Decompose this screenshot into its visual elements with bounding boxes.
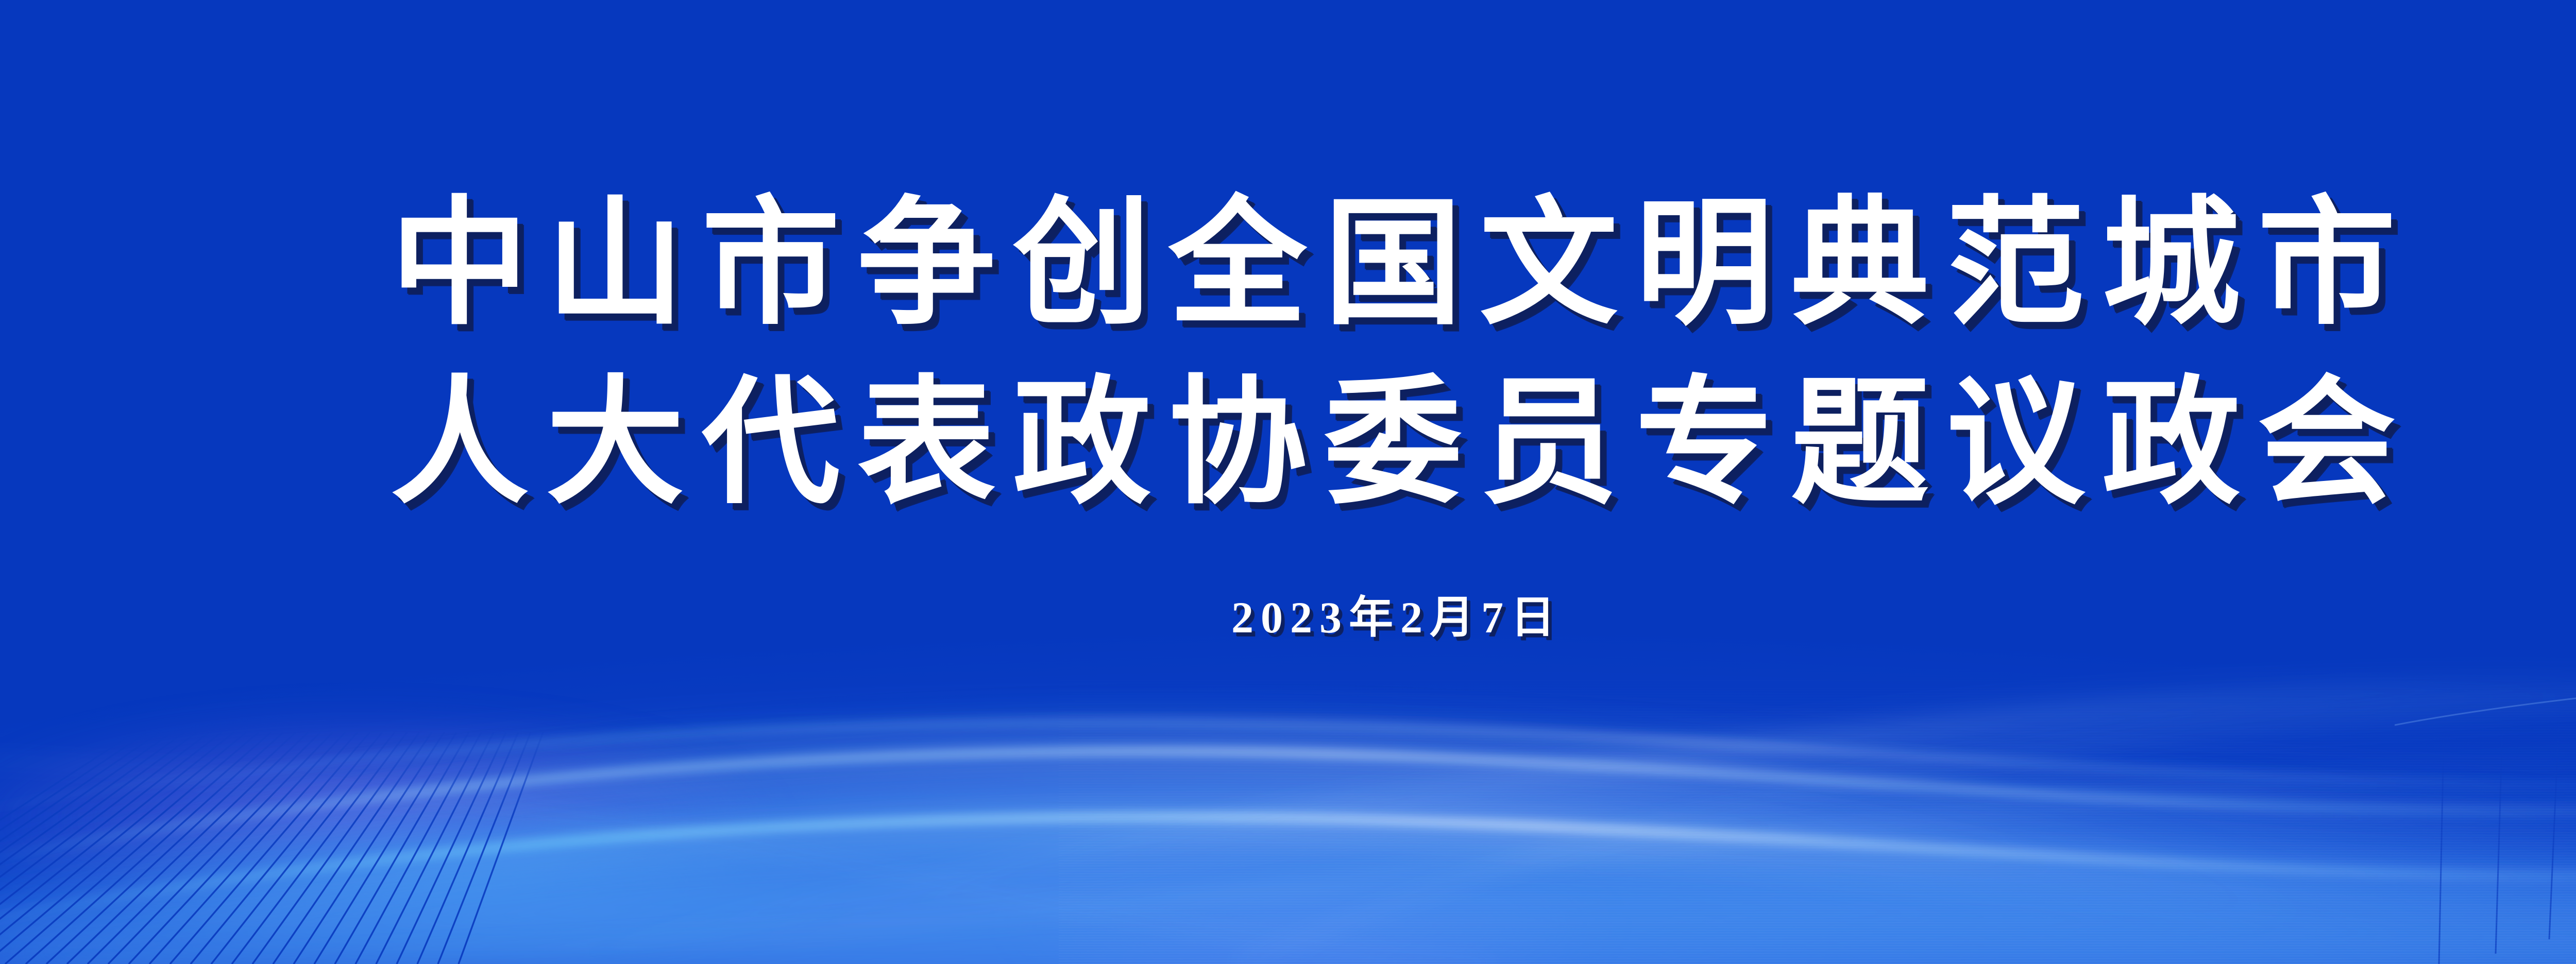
event-date: 2023年2月7日 bbox=[1224, 581, 1562, 645]
banner-canvas: 中山市争创全国文明典范城市 人大代表政协委员专题议政会 2023年2月7日 bbox=[0, 0, 2576, 964]
headline-block: 中山市争创全国文明典范城市 人大代表政协委员专题议政会 bbox=[373, 192, 2413, 517]
banner-content: 中山市争创全国文明典范城市 人大代表政协委员专题议政会 2023年2月7日 bbox=[0, 0, 2576, 964]
headline-line-1: 中山市争创全国文明典范城市 bbox=[373, 192, 2413, 338]
headline-line-2: 人大代表政协委员专题议政会 bbox=[373, 371, 2413, 517]
